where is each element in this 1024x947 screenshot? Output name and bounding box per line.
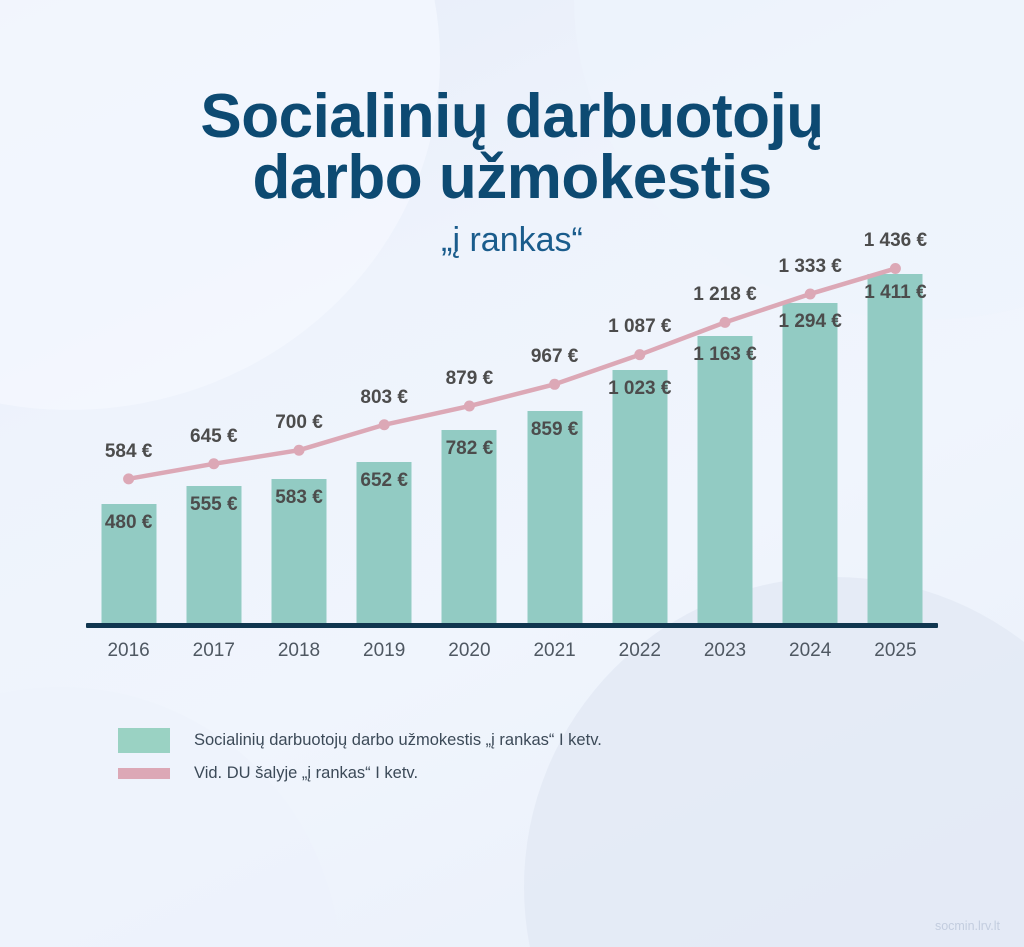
title-line-1: Socialinių darbuotojų xyxy=(97,86,927,147)
x-tick-2022: 2022 xyxy=(597,640,682,662)
line-marker-2016[interactable] xyxy=(123,473,134,484)
line-value-label-2017: 645 € xyxy=(190,426,238,448)
title-line-2: darbo užmokestis xyxy=(97,147,927,208)
line-value-label-2016: 584 € xyxy=(105,441,153,463)
line-value-label-2021: 967 € xyxy=(531,346,579,368)
chart-legend: Socialinių darbuotojų darbo užmokestis „… xyxy=(118,728,1024,783)
x-tick-2016: 2016 xyxy=(86,640,171,662)
x-tick-2025: 2025 xyxy=(853,640,938,662)
x-axis-tick-labels: 2016201720182019202020212022202320242025 xyxy=(86,640,938,682)
line-value-label-2024: 1 333 € xyxy=(778,256,841,278)
line-value-label-2022: 1 087 € xyxy=(608,316,671,338)
legend-item-bar-label: Socialinių darbuotojų darbo užmokestis „… xyxy=(194,731,602,750)
line-marker-2021[interactable] xyxy=(549,379,560,390)
line-marker-2020[interactable] xyxy=(464,400,475,411)
legend-item-bar[interactable]: Socialinių darbuotojų darbo užmokestis „… xyxy=(118,728,1024,753)
line-marker-2018[interactable] xyxy=(294,444,305,455)
x-tick-2020: 2020 xyxy=(427,640,512,662)
line-marker-2024[interactable] xyxy=(805,288,816,299)
chart-container: 480 €555 €583 €652 €782 €859 €1 023 €1 1… xyxy=(0,260,1024,682)
x-tick-2019: 2019 xyxy=(342,640,427,662)
x-axis-line xyxy=(86,623,938,628)
line-marker-2023[interactable] xyxy=(720,317,731,328)
source-footer: socmin.lrv.lt xyxy=(935,919,1000,933)
page-title: Socialinių darbuotojų darbo užmokestis xyxy=(97,86,927,209)
line-value-label-2020: 879 € xyxy=(446,368,494,390)
legend-swatch-line-icon xyxy=(118,768,170,779)
line-path xyxy=(129,268,896,478)
line-value-label-2025: 1 436 € xyxy=(864,230,927,252)
x-tick-2018: 2018 xyxy=(256,640,341,662)
x-tick-2021: 2021 xyxy=(512,640,597,662)
line-marker-2022[interactable] xyxy=(634,349,645,360)
poster-canvas: Socialinių darbuotojų darbo užmokestis „… xyxy=(0,0,1024,947)
line-marker-2025[interactable] xyxy=(890,263,901,274)
legend-item-line-label: Vid. DU šalyje „į rankas“ I ketv. xyxy=(194,764,418,783)
background-blob-bottom-left xyxy=(0,687,340,947)
chart-plot-area: 480 €555 €583 €652 €782 €859 €1 023 €1 1… xyxy=(86,260,938,628)
x-tick-2017: 2017 xyxy=(171,640,256,662)
line-value-label-2018: 700 € xyxy=(275,412,323,434)
line-value-label-2023: 1 218 € xyxy=(693,284,756,306)
x-tick-2024: 2024 xyxy=(768,640,853,662)
line-marker-2019[interactable] xyxy=(379,419,390,430)
poster-header: Socialinių darbuotojų darbo užmokestis „… xyxy=(0,0,1024,260)
legend-item-line[interactable]: Vid. DU šalyje „į rankas“ I ketv. xyxy=(118,764,1024,783)
line-marker-2017[interactable] xyxy=(208,458,219,469)
legend-swatch-bar-icon xyxy=(118,728,170,753)
line-value-label-2019: 803 € xyxy=(360,387,408,409)
x-tick-2023: 2023 xyxy=(682,640,767,662)
